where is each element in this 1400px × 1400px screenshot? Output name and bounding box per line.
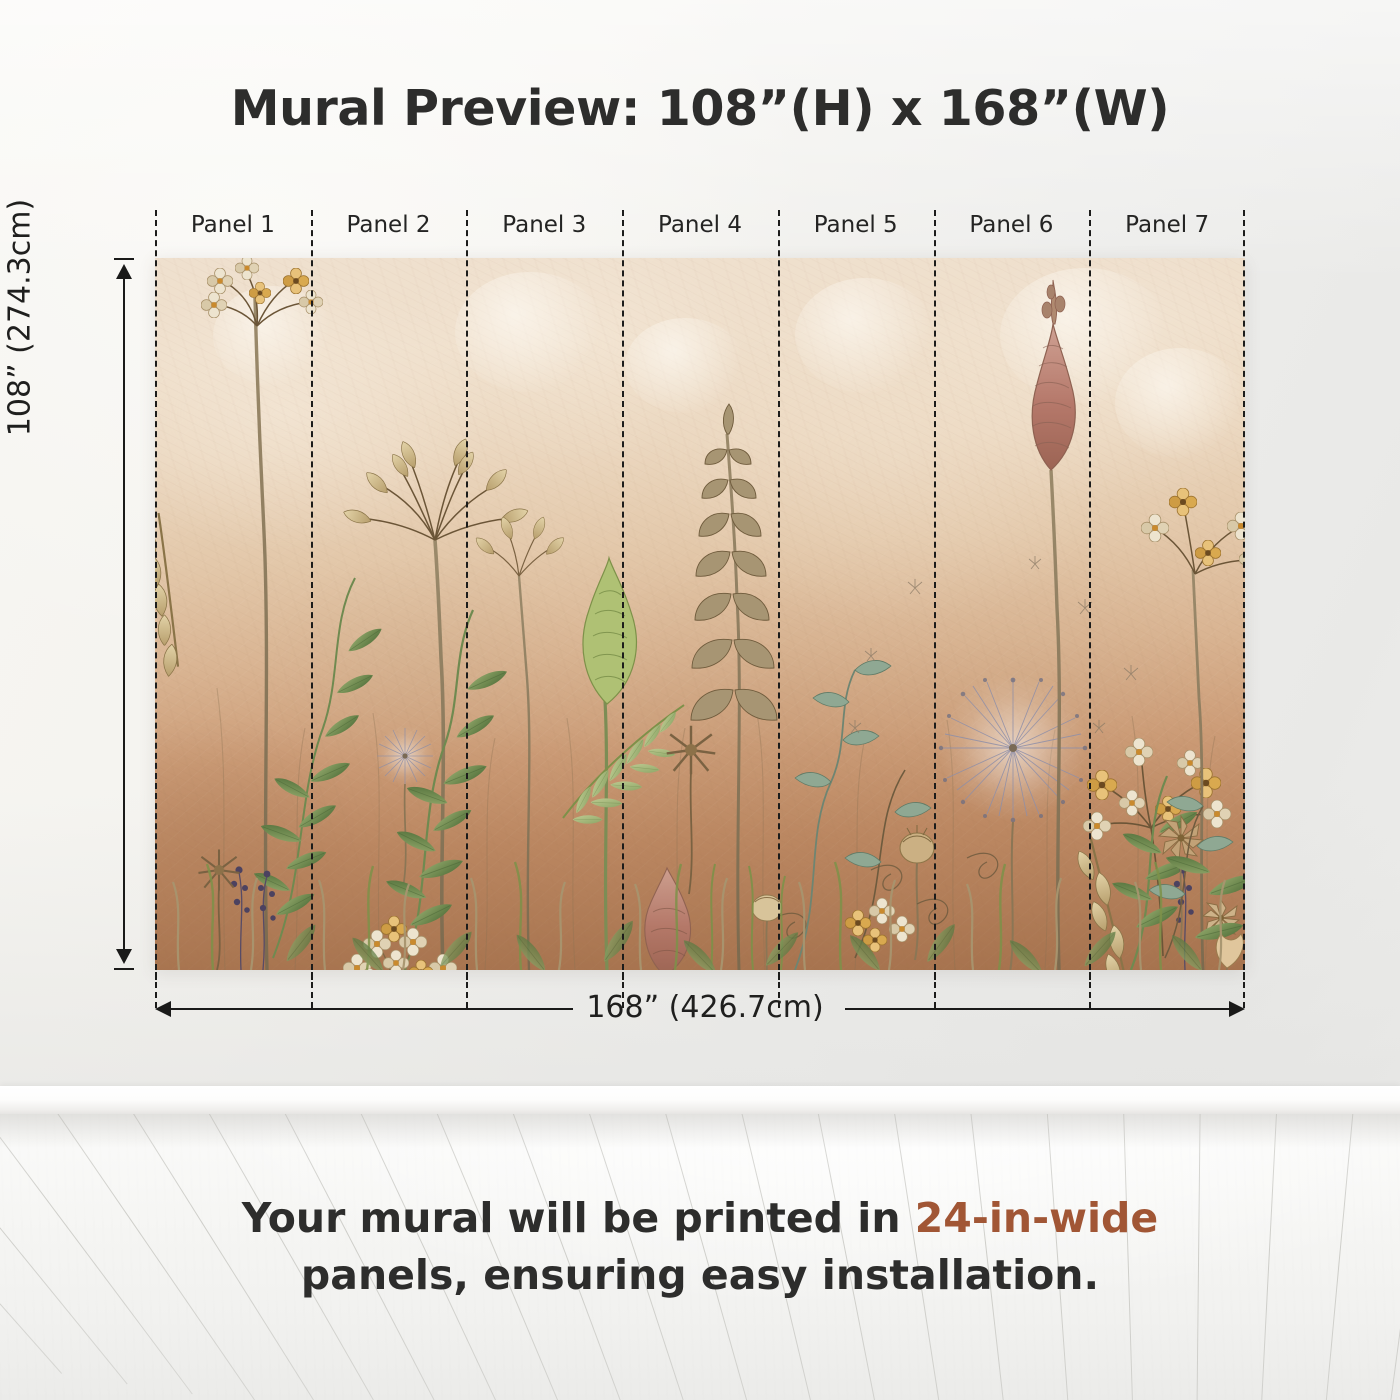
caption-accent: 24-in-wide <box>915 1194 1158 1242</box>
width-dimension-arrow: 168” (426.7cm) <box>155 994 1245 1024</box>
panel-divider-5 <box>934 210 936 980</box>
floor-wall-shadow <box>0 1114 1400 1148</box>
dimension-shaft-vertical <box>123 268 125 960</box>
panel-label-6: Panel 6 <box>934 212 1090 238</box>
arrowhead-up-icon <box>116 264 132 279</box>
footer-caption: Your mural will be printed in 24-in-wide… <box>0 1190 1400 1303</box>
panel-tick-4 <box>778 972 780 1008</box>
panel-label-2: Panel 2 <box>311 212 467 238</box>
panel-tick-7 <box>1243 972 1245 1008</box>
panel-label-5: Panel 5 <box>778 212 934 238</box>
panel-label-row: Panel 1Panel 2Panel 3Panel 4Panel 5Panel… <box>155 212 1245 246</box>
panel-tick-3 <box>622 972 624 1008</box>
panel-tick-1 <box>311 972 313 1008</box>
mural-artwork[interactable] <box>155 258 1245 970</box>
page-title: Mural Preview: 108”(H) x 168”(W) <box>0 80 1400 137</box>
dimension-tick-bottom <box>114 968 134 970</box>
panel-label-1: Panel 1 <box>155 212 311 238</box>
mural-preview-area <box>155 258 1245 970</box>
dimension-tick-top <box>114 258 134 260</box>
panel-tick-5 <box>934 972 936 1008</box>
panel-label-7: Panel 7 <box>1089 212 1245 238</box>
panel-label-4: Panel 4 <box>622 212 778 238</box>
botanical-illustration <box>155 258 1245 970</box>
height-dimension-label: 108” (274.3cm) <box>3 88 38 548</box>
panel-divider-7 <box>1243 210 1245 980</box>
mural-preview-page: Mural Preview: 108”(H) x 168”(W) Panel 1… <box>0 0 1400 1400</box>
height-dimension-arrow <box>110 258 138 970</box>
dimension-shaft-left <box>165 1008 573 1010</box>
panel-divider-4 <box>778 210 780 980</box>
panel-divider-2 <box>466 210 468 980</box>
panel-tick-0 <box>155 972 157 1008</box>
panel-divider-6 <box>1089 210 1091 980</box>
baseboard <box>0 1086 1400 1116</box>
caption-line1: Your mural will be printed in 24-in-wide <box>242 1194 1158 1242</box>
panel-label-3: Panel 3 <box>466 212 622 238</box>
panel-divider-0 <box>155 210 157 980</box>
caption-pre: Your mural will be printed in <box>242 1194 915 1242</box>
panel-divider-1 <box>311 210 313 980</box>
caption-line2: panels, ensuring easy installation. <box>301 1251 1099 1299</box>
width-dimension-label: 168” (426.7cm) <box>555 990 855 1025</box>
dimension-shaft-right <box>845 1008 1235 1010</box>
panel-tick-2 <box>466 972 468 1008</box>
arrowhead-down-icon <box>116 949 132 964</box>
panel-divider-3 <box>622 210 624 980</box>
panel-tick-6 <box>1089 972 1091 1008</box>
